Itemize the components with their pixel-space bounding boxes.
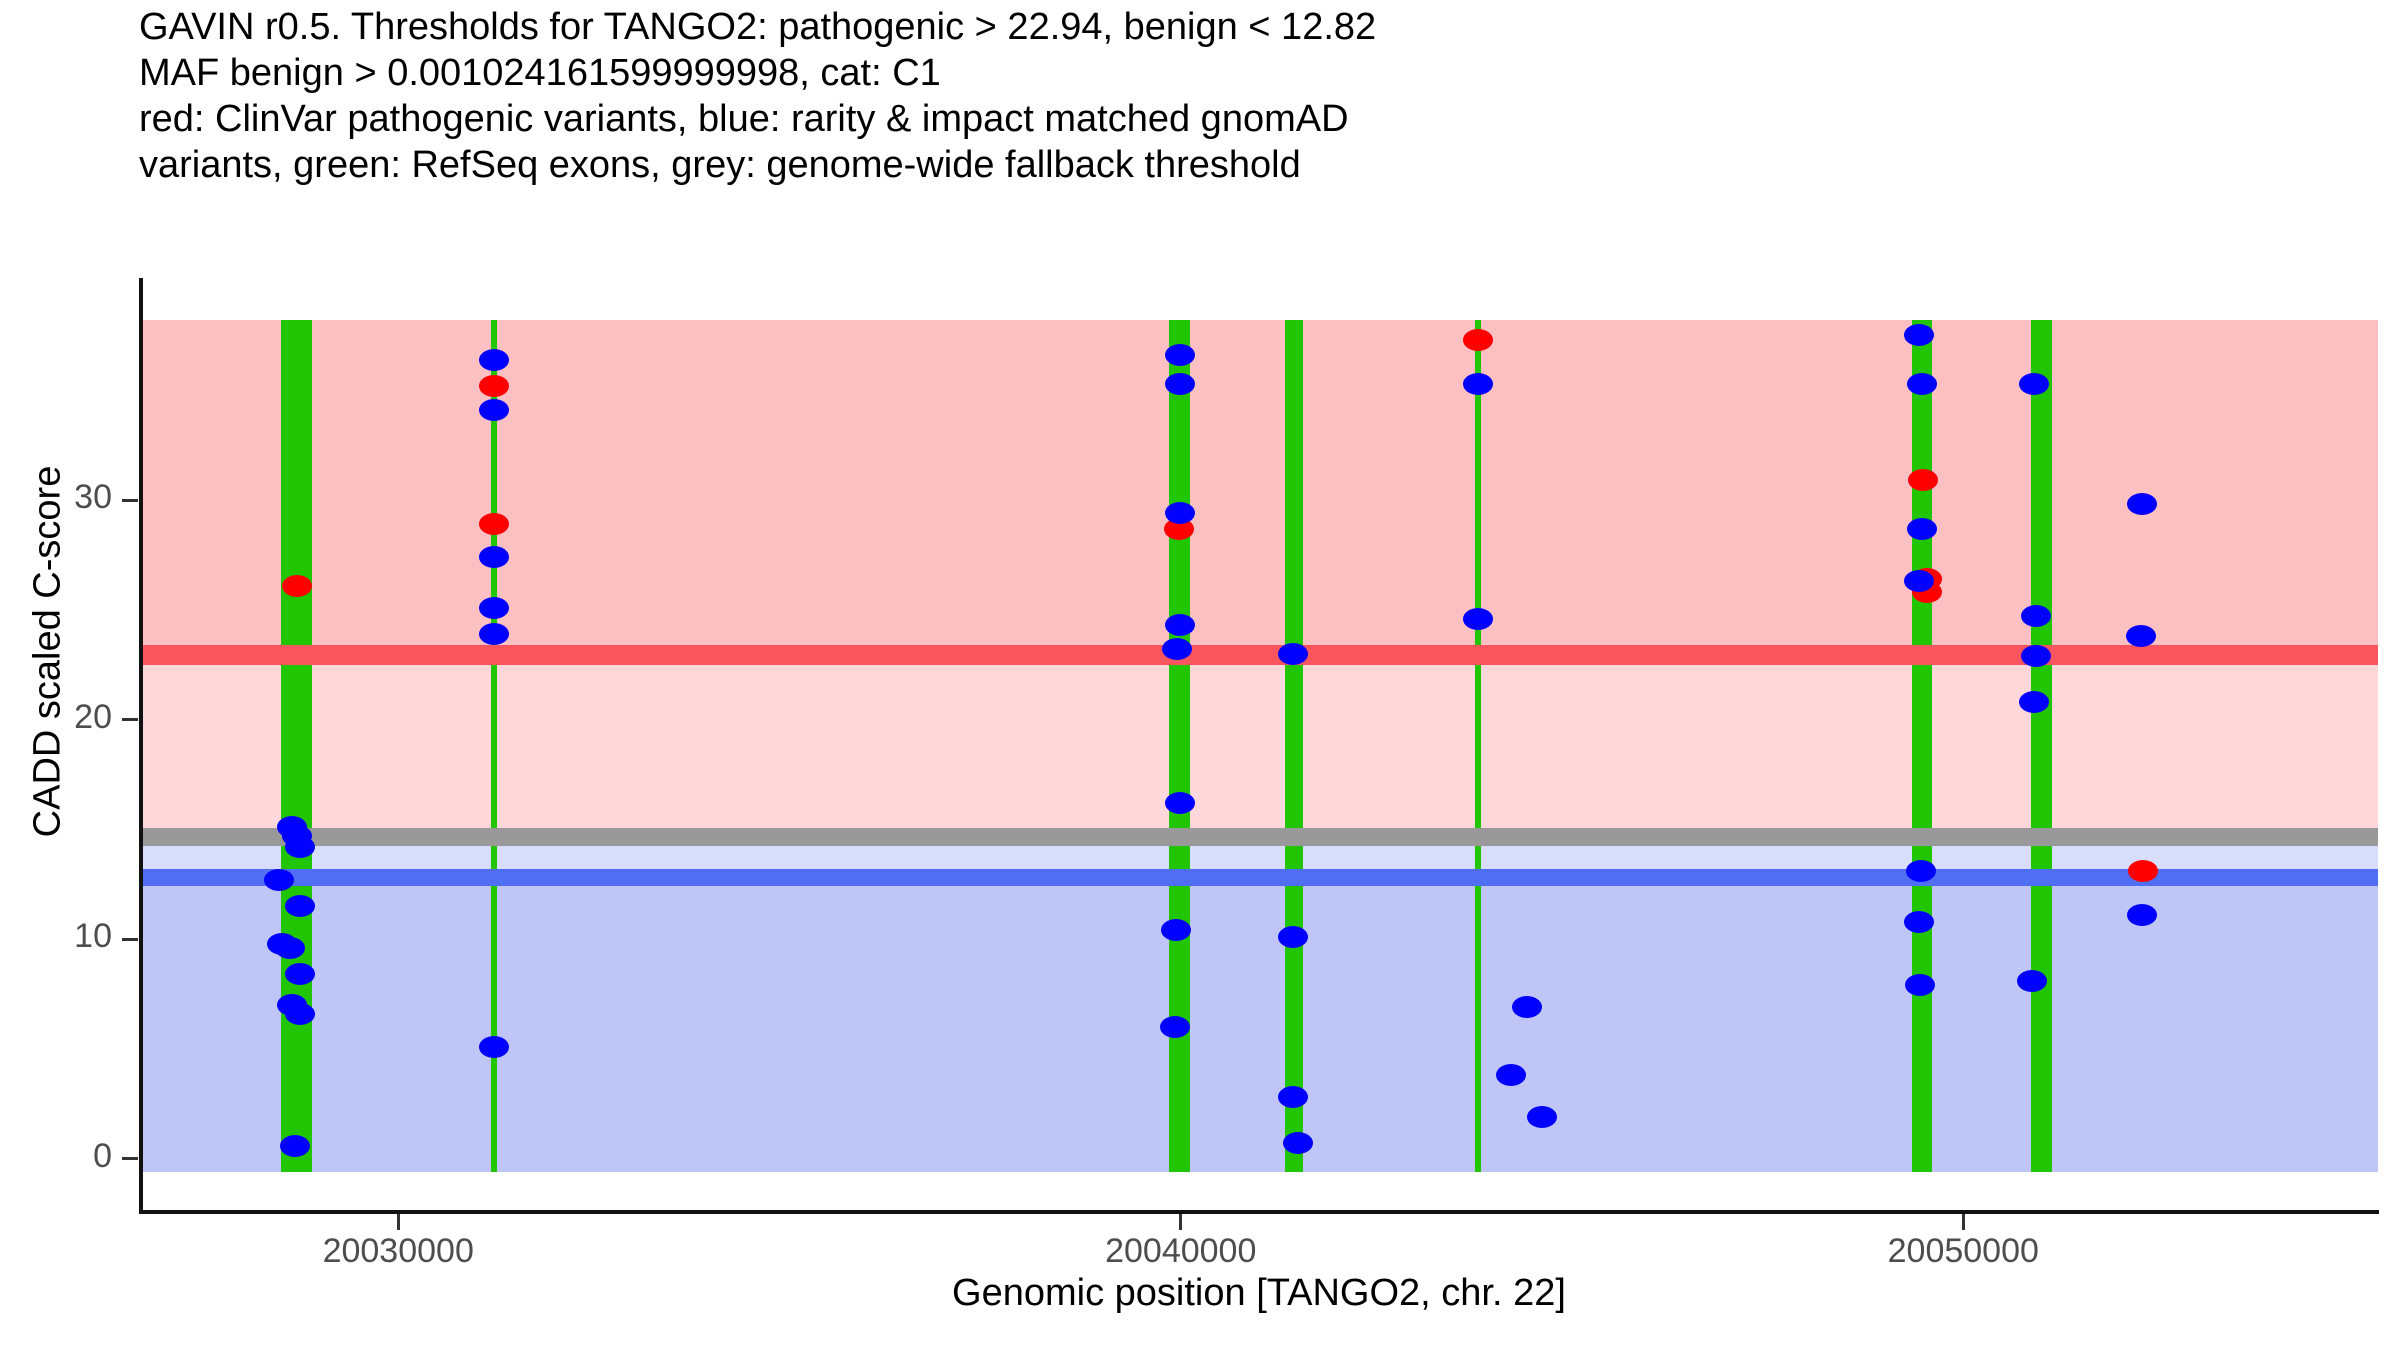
gnomad-variant-point: [1165, 373, 1195, 395]
gnomad-variant-point: [1907, 373, 1937, 395]
x-tick-mark: [1962, 1214, 1965, 1230]
gnomad-variant-point: [1278, 1086, 1308, 1108]
exon-bar: [281, 320, 312, 1172]
y-tick-label: 0: [0, 1137, 112, 1176]
gnomad-variant-point: [1907, 518, 1937, 540]
gnomad-variant-point: [1278, 643, 1308, 665]
gnomad-variant-point: [479, 1036, 509, 1058]
gnomad-variant-point: [479, 399, 509, 421]
gnomad-variant-point: [479, 623, 509, 645]
y-tick-label: 10: [0, 917, 112, 956]
gnomad-variant-point: [285, 836, 315, 858]
gnomad-variant-point: [1512, 996, 1542, 1018]
gnomad-variant-point: [1165, 344, 1195, 366]
gnomad-variant-point: [285, 963, 315, 985]
gnomad-variant-point: [285, 1003, 315, 1025]
gnomad-variant-point: [1904, 570, 1934, 592]
gnomad-variant-point: [2019, 691, 2049, 713]
exon-bar: [1475, 320, 1481, 1172]
pathogenic-variant-point: [282, 575, 312, 597]
pathogenic-variant-point: [479, 513, 509, 535]
gnomad-variant-point: [479, 597, 509, 619]
y-tick-mark: [122, 938, 138, 941]
plot-panel: [140, 320, 2378, 1172]
gnomad-variant-point: [479, 349, 509, 371]
pathogenic-variant-point: [1463, 329, 1493, 351]
y-axis-line: [139, 278, 143, 1214]
x-axis-title: Genomic position [TANGO2, chr. 22]: [140, 1272, 2378, 1315]
exon-bar: [2031, 320, 2051, 1172]
exon-bar: [1169, 320, 1190, 1172]
x-tick-mark: [397, 1214, 400, 1230]
x-tick-mark: [1179, 1214, 1182, 1230]
gnomad-variant-point: [280, 1135, 310, 1157]
benign-threshold-line: [140, 869, 2378, 886]
gnomad-variant-point: [2021, 645, 2051, 667]
fallback-threshold-line: [140, 828, 2378, 846]
gnomad-variant-point: [2019, 373, 2049, 395]
y-tick-mark: [122, 718, 138, 721]
pathogenic-variant-point: [479, 375, 509, 397]
gnomad-variant-point: [1463, 373, 1493, 395]
gnomad-variant-point: [479, 546, 509, 568]
x-tick-label: 20040000: [1001, 1232, 1361, 1271]
gnomad-variant-point: [285, 895, 315, 917]
y-tick-mark: [122, 499, 138, 502]
gnomad-variant-point: [2017, 970, 2047, 992]
y-axis-title: CADD scaled C-score: [27, 392, 70, 912]
exon-bar: [1285, 320, 1303, 1172]
y-tick-mark: [122, 1157, 138, 1160]
x-axis-line: [139, 1210, 2379, 1214]
gnomad-variant-point: [2126, 625, 2156, 647]
x-tick-label: 20030000: [218, 1232, 578, 1271]
gnomad-variant-point: [1463, 608, 1493, 630]
gnomad-variant-point: [1278, 926, 1308, 948]
pathogenic-variant-point: [1908, 469, 1938, 491]
gnomad-variant-point: [1165, 792, 1195, 814]
exon-bar: [1912, 320, 1932, 1172]
x-tick-label: 20050000: [1783, 1232, 2143, 1271]
gnomad-variant-point: [1906, 860, 1936, 882]
plot-area: 0102030 200300002004000020050000 CADD sc…: [0, 0, 2400, 1350]
gnomad-variant-point: [264, 869, 294, 891]
gnomad-variant-point: [1904, 911, 1934, 933]
